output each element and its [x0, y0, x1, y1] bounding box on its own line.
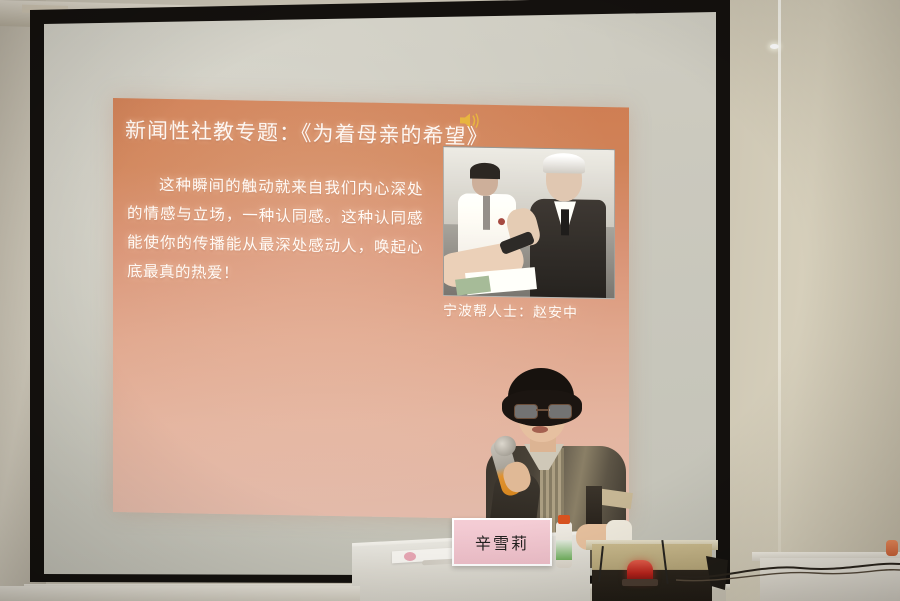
slide-embedded-photo [443, 146, 615, 299]
presenter-mouth [532, 426, 548, 433]
bottle-label [556, 540, 572, 560]
right-wall [726, 0, 900, 601]
sound-speaker-icon [458, 110, 480, 130]
slide-body-text: 这种瞬间的触动就来自我们内心深处的情感与立场，一种认同感。这种认同感能使你的传播… [127, 170, 423, 291]
photo-person-elder [530, 157, 606, 298]
glasses-icon [514, 404, 572, 417]
beacon-base [622, 579, 658, 586]
presentation-photo: 新闻性社教专题：《为着母亲的希望》 这种瞬间的触动就来自我们内心深处的情感与立场… [0, 0, 900, 601]
nameplate: 辛雪莉 [452, 518, 552, 566]
cable-icon [676, 560, 900, 582]
bottle-cap [558, 515, 570, 524]
wall-light-reflection [770, 44, 779, 49]
slide-photo-caption: 宁波帮人士：赵安中 [443, 300, 623, 323]
water-bottle [556, 522, 572, 568]
floor-strip [0, 586, 360, 601]
indicator-light [886, 540, 898, 556]
pink-object-on-table [404, 552, 416, 561]
nameplate-text: 辛雪莉 [475, 530, 529, 554]
